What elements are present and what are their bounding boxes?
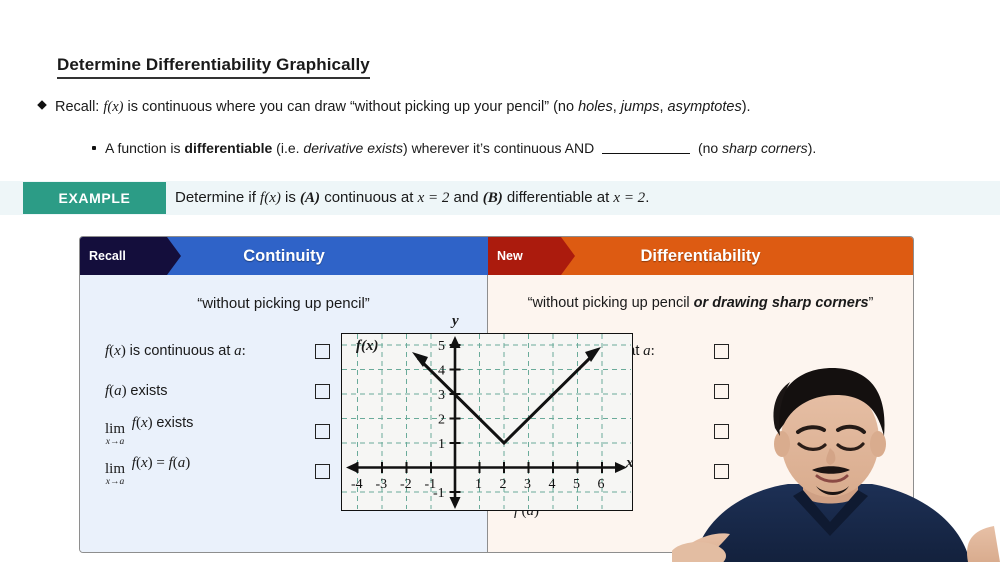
example-prompt: Determine if f(x) is (A) continuous at x… [175, 189, 649, 207]
row-label: limx→a f(x) = f(a) [105, 455, 315, 488]
bullet1-em-holes: holes [578, 99, 613, 115]
differentiability-subhead: “without picking up pencil or drawing sh… [488, 295, 913, 311]
bullet-recall-continuous: Recall: f(x) is continuous where you can… [38, 99, 751, 116]
svg-text:5: 5 [573, 477, 580, 492]
fill-in-blank [602, 153, 690, 154]
function-graph: -4 -3 -2 -1 1 2 3 4 5 6 5 4 3 2 1 -1 [341, 333, 633, 511]
svg-text:-1: -1 [433, 486, 445, 501]
instructor-video-overlay[interactable] [672, 366, 1000, 562]
ex-label-a: (A) [300, 190, 320, 206]
ex-x-equals-2-b: x = 2 [613, 190, 645, 206]
recall-tag: Recall [80, 237, 181, 275]
square-bullet-icon [92, 146, 96, 150]
checkbox[interactable] [714, 344, 729, 359]
svg-text:-2: -2 [400, 477, 412, 492]
function-label: f(x) [356, 338, 379, 355]
subhead-emphasis: or drawing sharp corners [694, 295, 869, 311]
bullet2-suffix: ). [808, 140, 817, 156]
checkbox[interactable] [315, 384, 330, 399]
svg-text:4: 4 [549, 477, 556, 492]
ex-x-equals-2-a: x = 2 [418, 190, 450, 206]
subhead-end: ” [869, 295, 874, 311]
example-badge: EXAMPLE [23, 182, 166, 214]
svg-text:3: 3 [438, 388, 445, 403]
graph-svg: -4 -3 -2 -1 1 2 3 4 5 6 5 4 3 2 1 -1 [342, 334, 631, 509]
svg-text:1: 1 [438, 437, 445, 452]
row-label: f(x) is continuous at a: [105, 343, 315, 360]
bullet2-em-sharp-corners: sharp corners [722, 140, 808, 156]
x-axis-label: x [626, 455, 634, 472]
checkbox[interactable] [315, 344, 330, 359]
bullet1-prefix: Recall: [55, 99, 103, 115]
ex-label-b: (B) [483, 190, 503, 206]
ex-p4: and [449, 189, 482, 206]
tick-labels: -4 -3 -2 -1 1 2 3 4 5 6 5 4 3 2 1 -1 [351, 339, 605, 501]
svg-text:-3: -3 [376, 477, 388, 492]
bullet1-suffix: ). [742, 99, 751, 115]
diamond-bullet-icon [37, 100, 47, 110]
bullet2-strong: differentiable [184, 140, 272, 156]
ex-p1: Determine if [175, 189, 260, 206]
continuity-subhead: “without picking up pencil” [80, 295, 487, 312]
bullet1-em-jumps: jumps [621, 99, 660, 115]
ex-p6: . [645, 189, 649, 206]
ex-fx: f(x) [260, 190, 281, 206]
ex-p5: differentiable at [503, 189, 614, 206]
svg-text:1: 1 [475, 477, 482, 492]
svg-text:6: 6 [598, 477, 605, 492]
bullet1-fx: f(x) [103, 99, 123, 115]
bullet1-em-asymptotes: asymptotes [668, 99, 742, 115]
bullet2-em-derivative: derivative exists [303, 140, 403, 156]
svg-text:-4: -4 [351, 477, 363, 492]
limit-subscript: x→a [106, 438, 124, 448]
card-header: Continuity Recall Differentiability New [80, 237, 913, 275]
differentiability-header: Differentiability New [488, 237, 913, 275]
subhead-plain: “without picking up pencil [528, 295, 694, 311]
checkbox[interactable] [315, 464, 330, 479]
bullet2-pre: A function is [105, 140, 184, 156]
bullet1-sep1: , [613, 99, 621, 115]
bullet1-mid: is continuous where you can draw “withou… [123, 99, 578, 115]
svg-text:2: 2 [500, 477, 507, 492]
bullet1-sep2: , [659, 99, 667, 115]
row-label: limx→a f(x) exists [105, 415, 315, 448]
new-tag: New [488, 237, 575, 275]
svg-text:5: 5 [438, 339, 445, 354]
svg-text:3: 3 [524, 477, 531, 492]
limit-subscript: x→a [106, 478, 124, 488]
continuity-header: Continuity Recall [80, 237, 488, 275]
bullet2-mid1: (i.e. [272, 140, 303, 156]
page-title: Determine Differentiability Graphically [57, 56, 370, 79]
ex-p2: is [281, 189, 300, 206]
bullet2-mid3: (no [694, 140, 722, 156]
checkbox[interactable] [315, 424, 330, 439]
instructor-figure [672, 366, 1000, 562]
svg-text:4: 4 [438, 364, 445, 379]
row-label: f(a) exists [105, 383, 315, 400]
ex-p3: continuous at [320, 189, 418, 206]
bullet-differentiable-definition: A function is differentiable (i.e. deriv… [92, 140, 816, 156]
slide-canvas: Determine Differentiability Graphically … [0, 0, 1000, 562]
bullet2-mid2: ) wherever it’s continuous AND [403, 140, 598, 156]
y-axis-label: y [452, 313, 459, 330]
svg-text:2: 2 [438, 413, 445, 428]
